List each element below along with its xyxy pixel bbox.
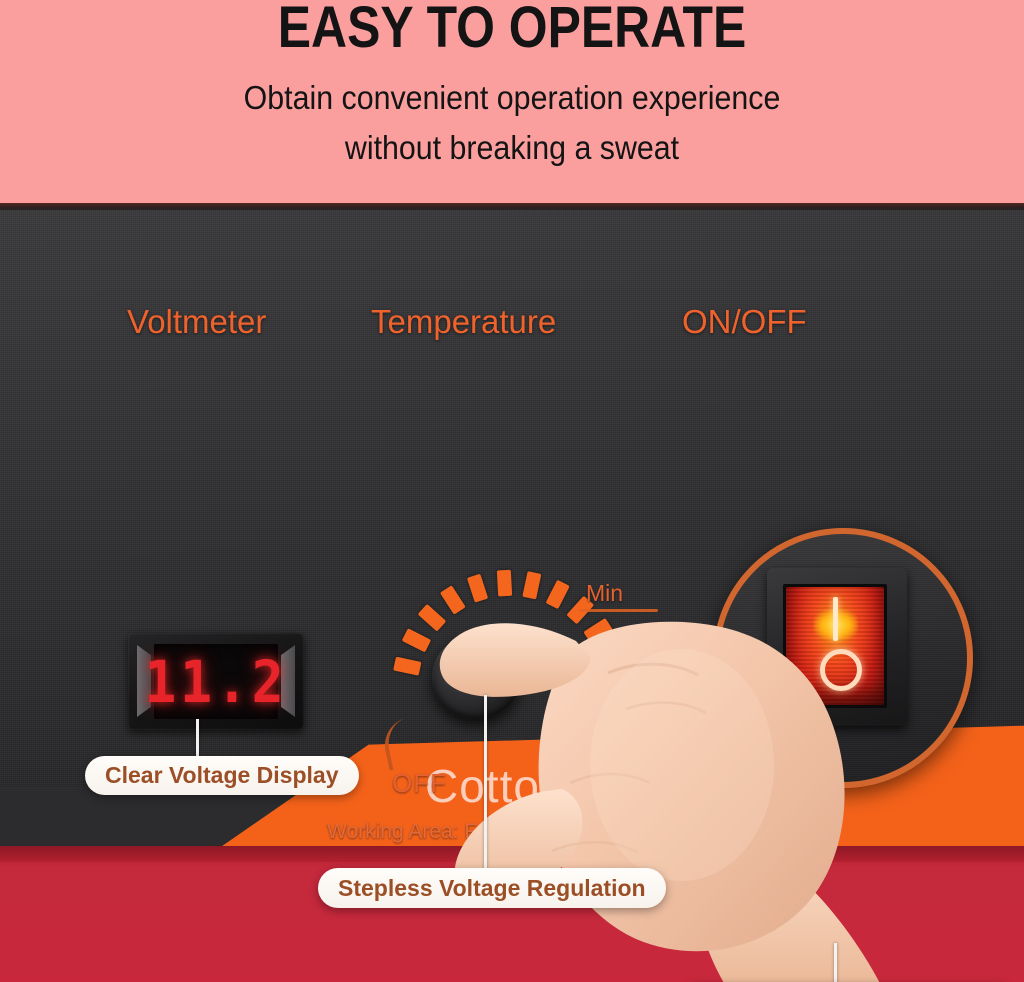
callout-leader-switch xyxy=(834,943,837,982)
label-temperature: Temperature xyxy=(371,303,556,341)
voltmeter-module: 11.2 xyxy=(128,633,304,730)
hand-graphic xyxy=(430,533,900,982)
voltmeter-digits: 11.2 xyxy=(144,653,287,711)
product-photo: Cotton Ca Voltmeter Temperature ON/OFF 1… xyxy=(0,203,1024,982)
label-voltmeter: Voltmeter xyxy=(127,303,266,341)
panel-top-edge xyxy=(0,203,1024,210)
dial-tick xyxy=(393,657,421,676)
dial-arc-tail xyxy=(380,714,437,771)
dial-tick xyxy=(402,628,432,652)
callout-leader-stepless xyxy=(484,695,487,871)
voltmeter-screen: 11.2 xyxy=(154,644,278,719)
label-onoff: ON/OFF xyxy=(682,303,807,341)
callout-clear-voltage-display: Clear Voltage Display xyxy=(85,756,359,795)
product-feature-image: EASY TO OPERATE Obtain convenient operat… xyxy=(0,0,1024,982)
header-banner: EASY TO OPERATE Obtain convenient operat… xyxy=(0,0,1024,203)
subtitle-line-2: without breaking a sweat xyxy=(41,130,983,166)
callout-stepless-voltage-regulation: Stepless Voltage Regulation xyxy=(318,868,666,908)
callout-leader-voltage xyxy=(196,719,199,759)
page-title: EASY TO OPERATE xyxy=(72,0,953,61)
subtitle-line-1: Obtain convenient operation experience xyxy=(41,80,983,116)
